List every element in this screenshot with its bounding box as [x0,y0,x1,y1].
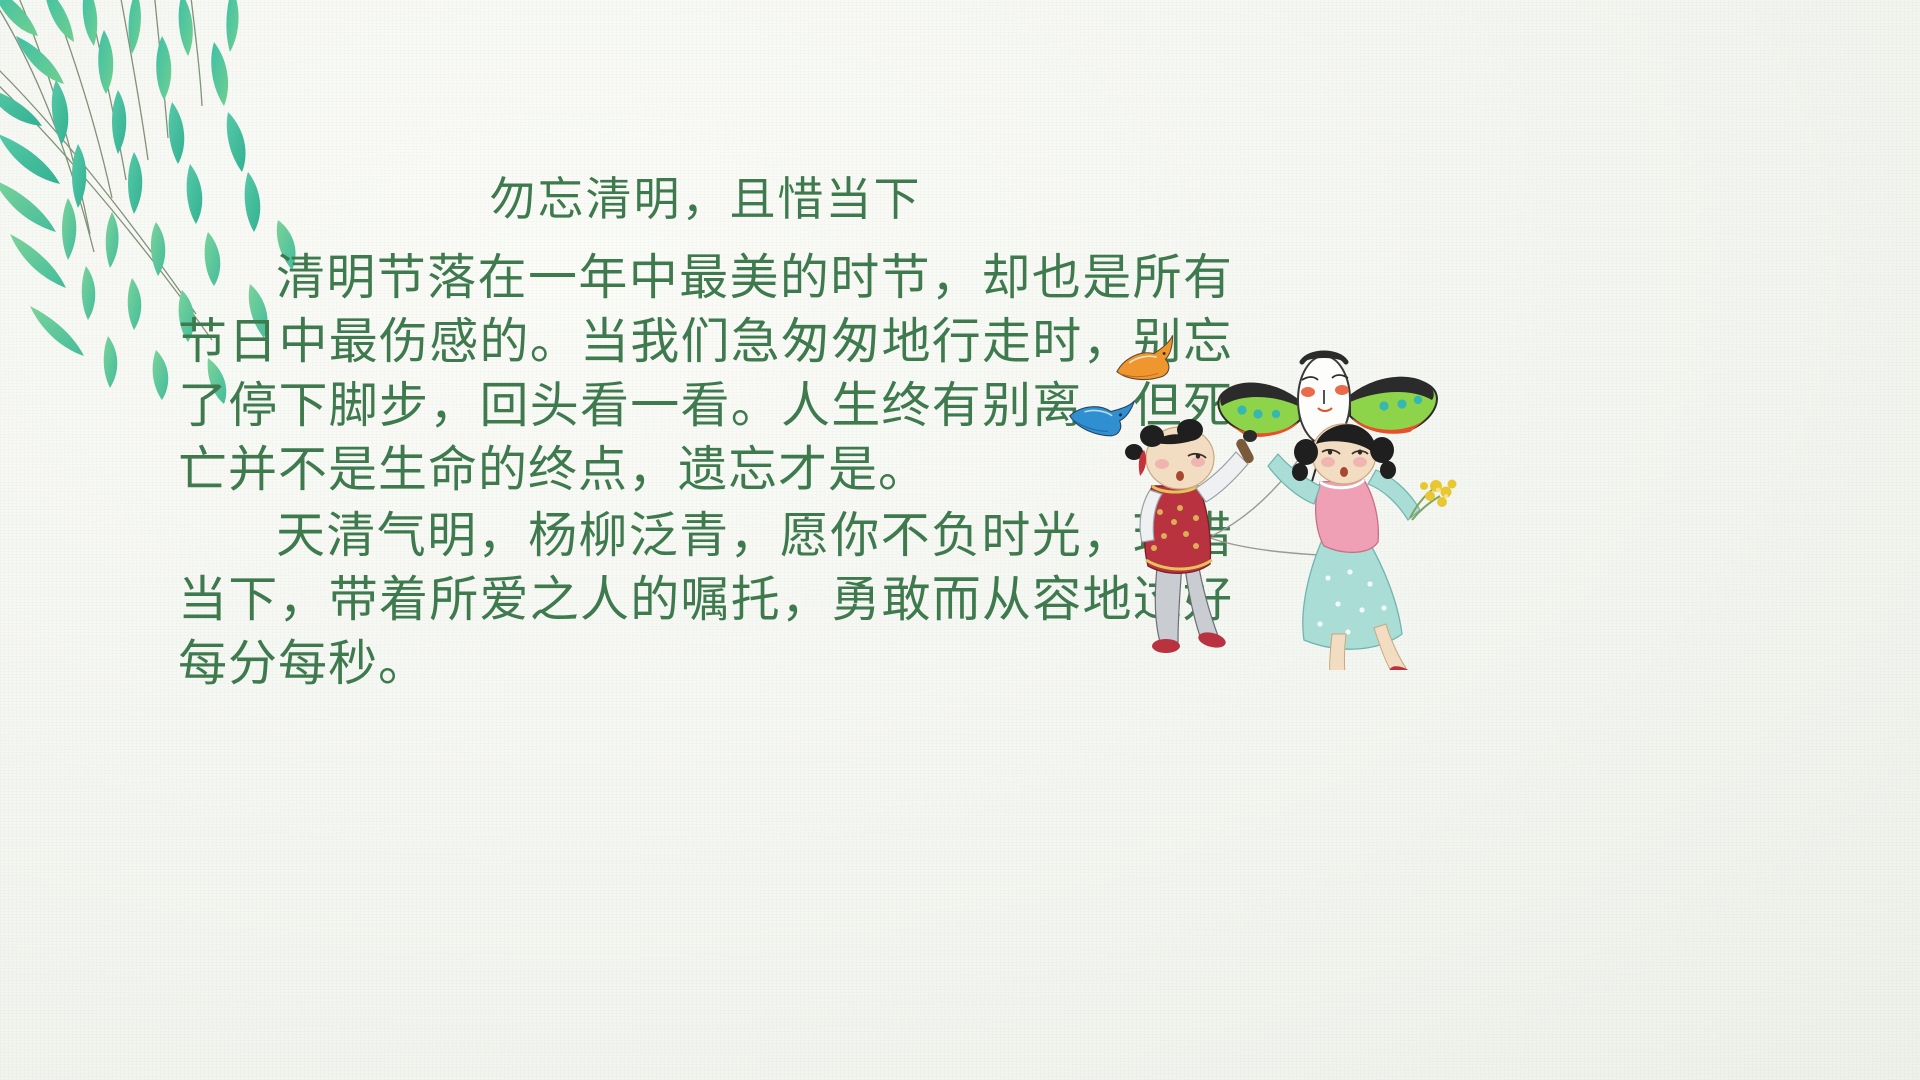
text-block: 勿忘清明，且惜当下 清明节落在一年中最美的时节，却也是所有节日中最伤感的。当我们… [178,168,1278,696]
girl-figure [1268,424,1457,670]
page-title: 勿忘清明，且惜当下 [178,168,1233,230]
paragraph-1: 清明节落在一年中最美的时节，却也是所有节日中最伤感的。当我们急匆匆地行走时，别忘… [178,246,1233,502]
slide-canvas: 勿忘清明，且惜当下 清明节落在一年中最美的时节，却也是所有节日中最伤感的。当我们… [0,0,1920,1080]
flower-bouquet-icon [1410,480,1457,521]
paragraph-2: 天清气明，杨柳泛青，愿你不负时光，珍惜当下，带着所爱之人的嘱托，勇敢而从容地过好… [178,504,1233,696]
